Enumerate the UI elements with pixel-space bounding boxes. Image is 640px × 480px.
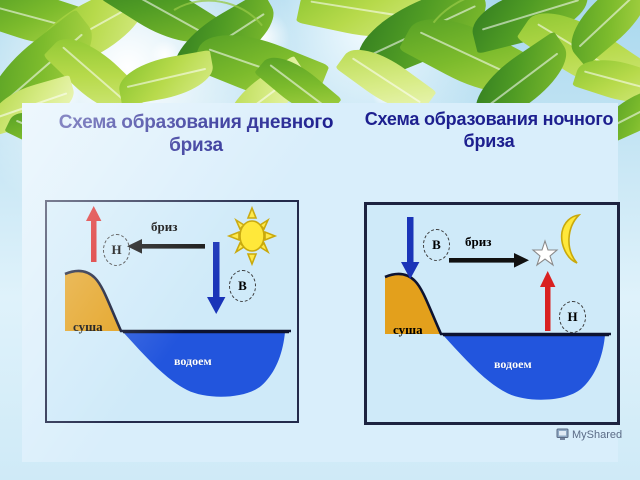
breeze-arrow-left xyxy=(127,239,205,254)
breeze-label: бриз xyxy=(151,219,177,235)
water-label: водоем xyxy=(494,357,532,372)
page-title-night-breeze: Схема образования ночного бриза xyxy=(344,109,634,153)
breeze-arrow-right xyxy=(449,253,529,268)
diagram-night-breeze: В Н бриз суша водоем xyxy=(364,202,620,425)
page-title-day-breeze: Схема образования дневного бриза xyxy=(56,111,336,157)
pressure-marker-high: В xyxy=(229,270,256,302)
sun-icon xyxy=(229,208,275,264)
pressure-marker-high: В xyxy=(423,229,450,261)
star-icon xyxy=(533,241,557,265)
land-label: суша xyxy=(73,319,103,335)
myshared-label: MyShared xyxy=(572,429,622,441)
pressure-marker-low: Н xyxy=(103,234,130,266)
slide-content-card: Схема образования дневного бриза Схема о… xyxy=(22,103,618,462)
breeze-label: бриз xyxy=(465,234,491,250)
moon-icon xyxy=(562,215,579,263)
water-label: водоем xyxy=(174,354,212,369)
pressure-marker-low: Н xyxy=(559,301,586,333)
water-arrow-up-red xyxy=(540,271,555,331)
myshared-icon xyxy=(556,428,569,441)
land-arrow-up-red xyxy=(86,206,101,262)
land-label: суша xyxy=(393,322,423,338)
land-arrow-down-blue xyxy=(401,217,419,279)
diagram-day-breeze: Н В бриз суша водоем xyxy=(45,200,299,423)
myshared-watermark: MyShared xyxy=(556,428,622,441)
water-arrow-down-blue xyxy=(207,242,225,314)
